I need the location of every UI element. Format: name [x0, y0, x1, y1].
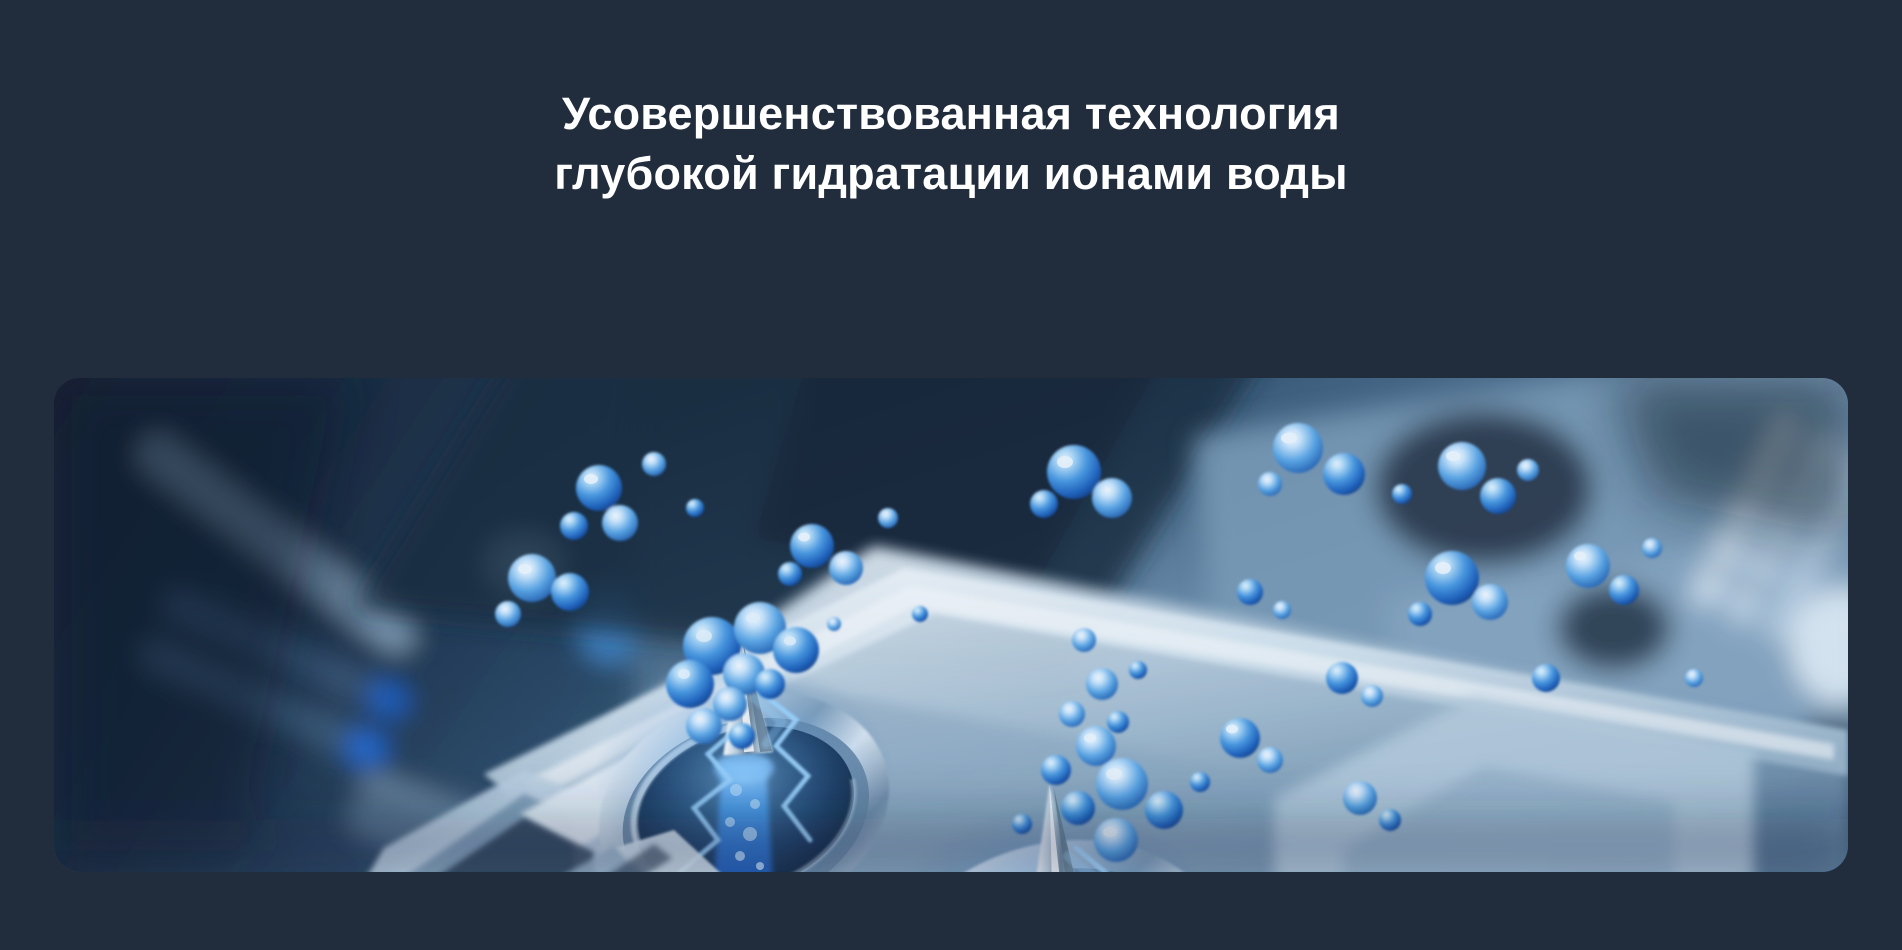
hero-image-illustration	[54, 378, 1848, 872]
hero-image	[54, 378, 1848, 872]
hero-section: Усовершенствованная технология глубокой …	[0, 0, 1902, 950]
page-title: Усовершенствованная технология глубокой …	[0, 84, 1902, 204]
page-title-line-1: Усовершенствованная технология	[0, 84, 1902, 144]
page-title-line-2: глубокой гидратации ионами воды	[0, 144, 1902, 204]
